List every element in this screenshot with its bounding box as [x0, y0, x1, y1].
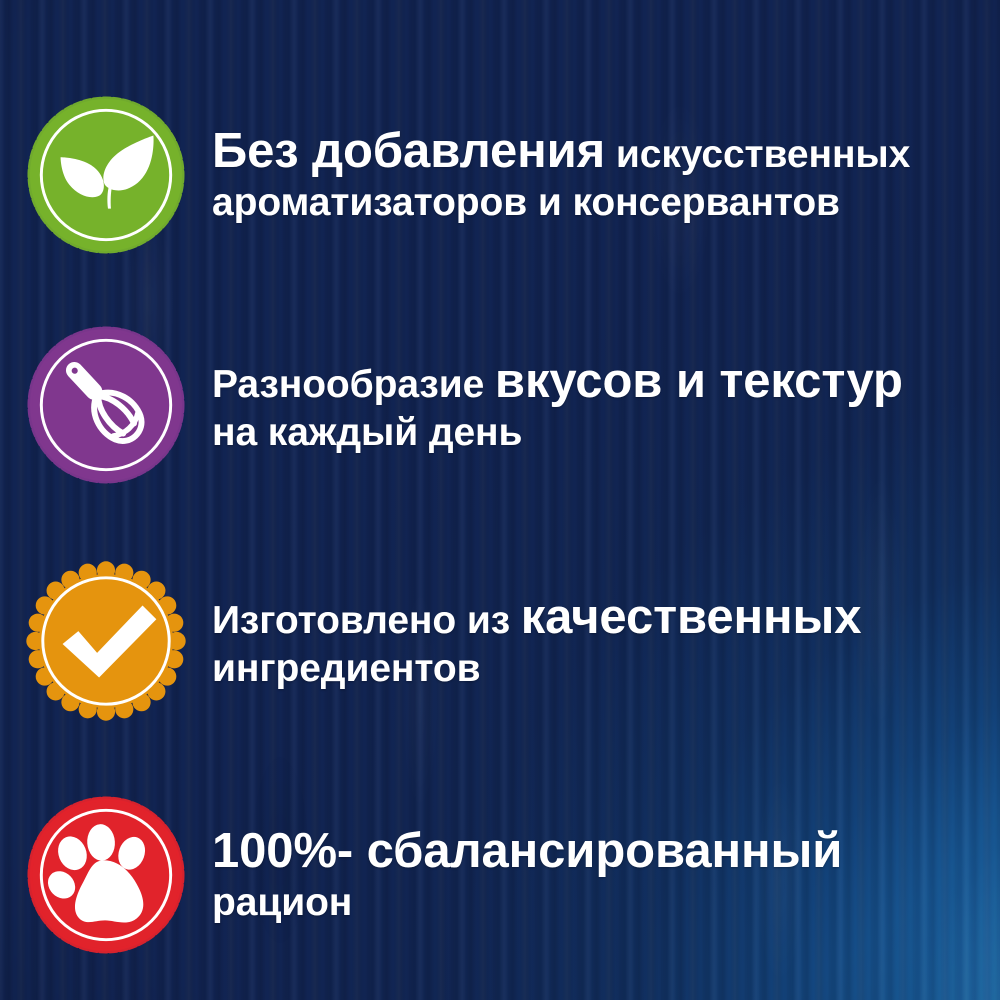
feature-emphasis-text: Без добавления	[212, 124, 605, 178]
badge-wrap-variety	[0, 312, 212, 498]
feature-emphasis-text: качественных	[521, 590, 862, 644]
feature-list: Без добавления искусственных ароматизато…	[0, 0, 1000, 1000]
feature-line-2: ароматизаторов и консервантов	[212, 182, 910, 223]
feature-emphasis-text: 100%- сбалансированный	[212, 824, 842, 878]
feature-item-quality: Изготовлено из качественных ингредиентов	[0, 548, 1000, 734]
paw-print-icon	[30, 799, 182, 951]
feature-normal-text: Изготовлено из	[212, 599, 521, 642]
feature-normal-text: Разнообразие	[212, 363, 495, 406]
badge-wrap-balanced	[0, 782, 212, 968]
feature-line-1: Разнообразие вкусов и текстур	[212, 356, 903, 408]
infographic-poster: Без добавления искусственных ароматизато…	[0, 0, 1000, 1000]
feature-line-2: на каждый день	[212, 412, 903, 453]
feature-item-variety: Разнообразие вкусов и текстур на каждый …	[0, 312, 1000, 498]
feature-text-quality: Изготовлено из качественных ингредиентов	[212, 592, 901, 689]
feature-normal-text: искусственных	[605, 133, 910, 176]
feature-line-2: ингредиентов	[212, 648, 861, 689]
feature-line-1: Изготовлено из качественных	[212, 592, 861, 644]
feature-text-variety: Разнообразие вкусов и текстур на каждый …	[212, 356, 943, 453]
badge-balanced	[27, 796, 185, 954]
leaf-sprout-icon	[30, 99, 182, 251]
scalloped-seal-edge	[26, 561, 185, 720]
feature-line-1: Без добавления искусственных	[212, 126, 910, 178]
feature-line-1: 100%- сбалансированный	[212, 826, 842, 878]
feature-item-balanced: 100%- сбалансированный рацион	[0, 782, 1000, 968]
whisk-icon	[30, 329, 182, 481]
checkmark-badge-icon	[26, 561, 185, 720]
badge-variety	[27, 326, 185, 484]
feature-item-no-additives: Без добавления искусственных ароматизато…	[0, 82, 1000, 268]
badge-quality	[27, 562, 185, 720]
badge-wrap-quality	[0, 548, 212, 734]
feature-emphasis-text: вкусов и текстур	[495, 354, 903, 408]
badge-wrap-no-additives	[0, 82, 212, 268]
feature-text-balanced: 100%- сбалансированный рацион	[212, 826, 882, 923]
feature-text-no-additives: Без добавления искусственных ароматизато…	[212, 126, 950, 223]
badge-no-additives	[27, 96, 185, 254]
feature-line-2: рацион	[212, 882, 842, 923]
